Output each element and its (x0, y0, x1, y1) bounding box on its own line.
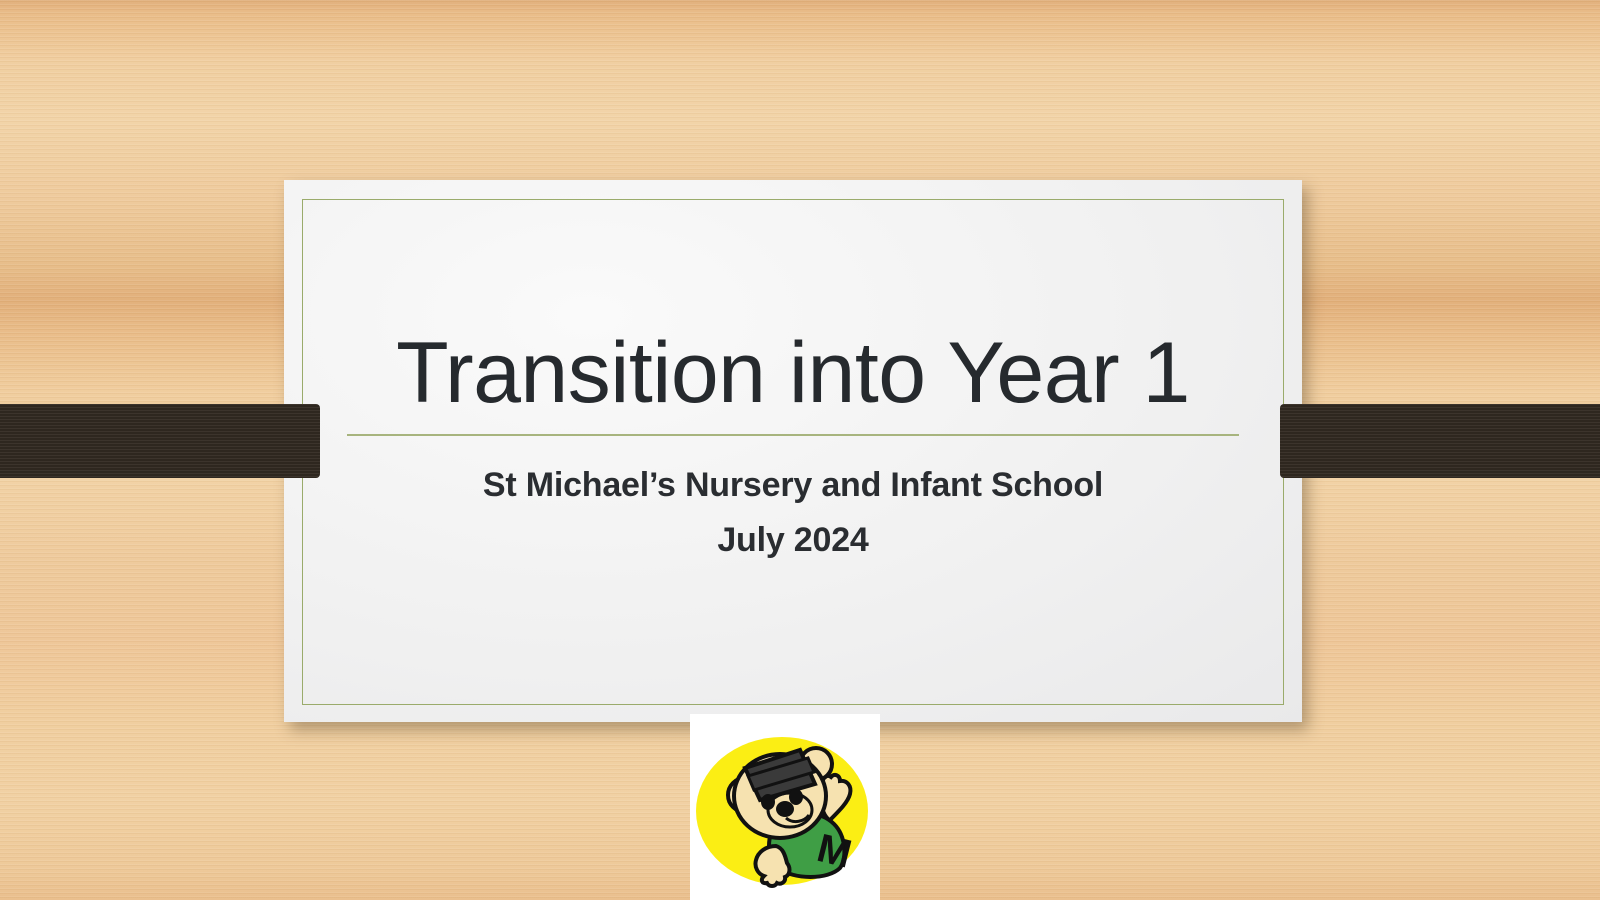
subtitle-block: St Michael’s Nursery and Infant School J… (344, 458, 1242, 568)
decorative-bar-right (1280, 404, 1600, 478)
bear-eye-right (789, 789, 803, 805)
title-slide-card: Transition into Year 1 St Michael’s Nurs… (284, 180, 1302, 722)
subtitle-line-school: St Michael’s Nursery and Infant School (344, 458, 1242, 513)
bear-nose (776, 801, 794, 817)
subtitle-line-date: July 2024 (344, 513, 1242, 568)
title-text-block: Transition into Year 1 St Michael’s Nurs… (344, 330, 1242, 568)
page-title: Transition into Year 1 (344, 330, 1242, 418)
bear-mascot-icon: M (690, 714, 880, 900)
bear-eye-left (761, 794, 775, 810)
decorative-bar-left (0, 404, 320, 478)
title-divider (347, 434, 1239, 436)
school-logo: M (690, 714, 880, 900)
bear-paw-left (755, 846, 789, 886)
